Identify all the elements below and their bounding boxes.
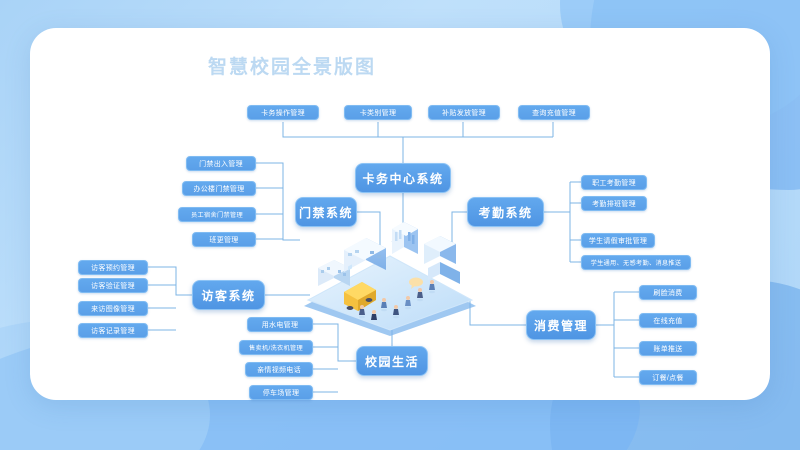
isometric-campus-illustration (300, 220, 480, 340)
node-bill-push[interactable]: 账单推送 (639, 341, 697, 356)
node-water-electricity-mgmt[interactable]: 用水电管理 (247, 317, 313, 332)
node-access-entry-exit-mgmt[interactable]: 门禁出入管理 (186, 156, 256, 171)
hub-consumption-mgmt[interactable]: 消费管理 (526, 310, 596, 340)
node-student-leave-approval-mgmt[interactable]: 学生请假审批管理 (581, 233, 655, 248)
node-shift-change-mgmt[interactable]: 班更管理 (192, 232, 256, 247)
hub-card-center-system[interactable]: 卡务中心系统 (355, 163, 451, 193)
node-visitor-record-mgmt[interactable]: 访客记录管理 (78, 323, 148, 338)
node-query-recharge-mgmt[interactable]: 查询充值管理 (518, 105, 590, 120)
node-staff-dorm-access-mgmt[interactable]: 员工宿舍门禁管理 (178, 207, 256, 222)
node-visitor-verification-mgmt[interactable]: 访客验证管理 (78, 278, 148, 293)
hub-access-control-system[interactable]: 门禁系统 (295, 197, 357, 227)
node-student-general-contactless-attendance-push[interactable]: 学生通用、无感考勤、消息推送 (581, 255, 691, 270)
node-meal-ordering[interactable]: 订餐/点餐 (639, 370, 697, 385)
node-attendance-shift-mgmt[interactable]: 考勤排班管理 (581, 196, 647, 211)
node-visitor-image-mgmt[interactable]: 来访图像管理 (78, 301, 148, 316)
node-card-type-mgmt[interactable]: 卡类别管理 (344, 105, 412, 120)
node-card-operation-mgmt[interactable]: 卡务操作管理 (247, 105, 319, 120)
node-visitor-appointment-mgmt[interactable]: 访客预约管理 (78, 260, 148, 275)
node-office-building-access-mgmt[interactable]: 办公楼门禁管理 (182, 181, 256, 196)
node-subsidy-issue-mgmt[interactable]: 补贴发放管理 (428, 105, 500, 120)
node-vending-laundry-mgmt[interactable]: 售卖机/洗衣机管理 (239, 340, 313, 355)
slide-canvas: 智慧校园全景版图 (0, 0, 800, 450)
node-family-video-call[interactable]: 亲情视频电话 (245, 362, 313, 377)
hub-campus-life[interactable]: 校园生活 (356, 346, 428, 376)
node-face-payment[interactable]: 刷脸消费 (639, 285, 697, 300)
hub-attendance-system[interactable]: 考勤系统 (467, 197, 544, 227)
node-online-recharge[interactable]: 在线充值 (639, 313, 697, 328)
hub-visitor-system[interactable]: 访客系统 (192, 280, 265, 310)
node-parking-lot-mgmt[interactable]: 停车场管理 (249, 385, 313, 400)
node-staff-attendance-mgmt[interactable]: 职工考勤管理 (581, 175, 647, 190)
